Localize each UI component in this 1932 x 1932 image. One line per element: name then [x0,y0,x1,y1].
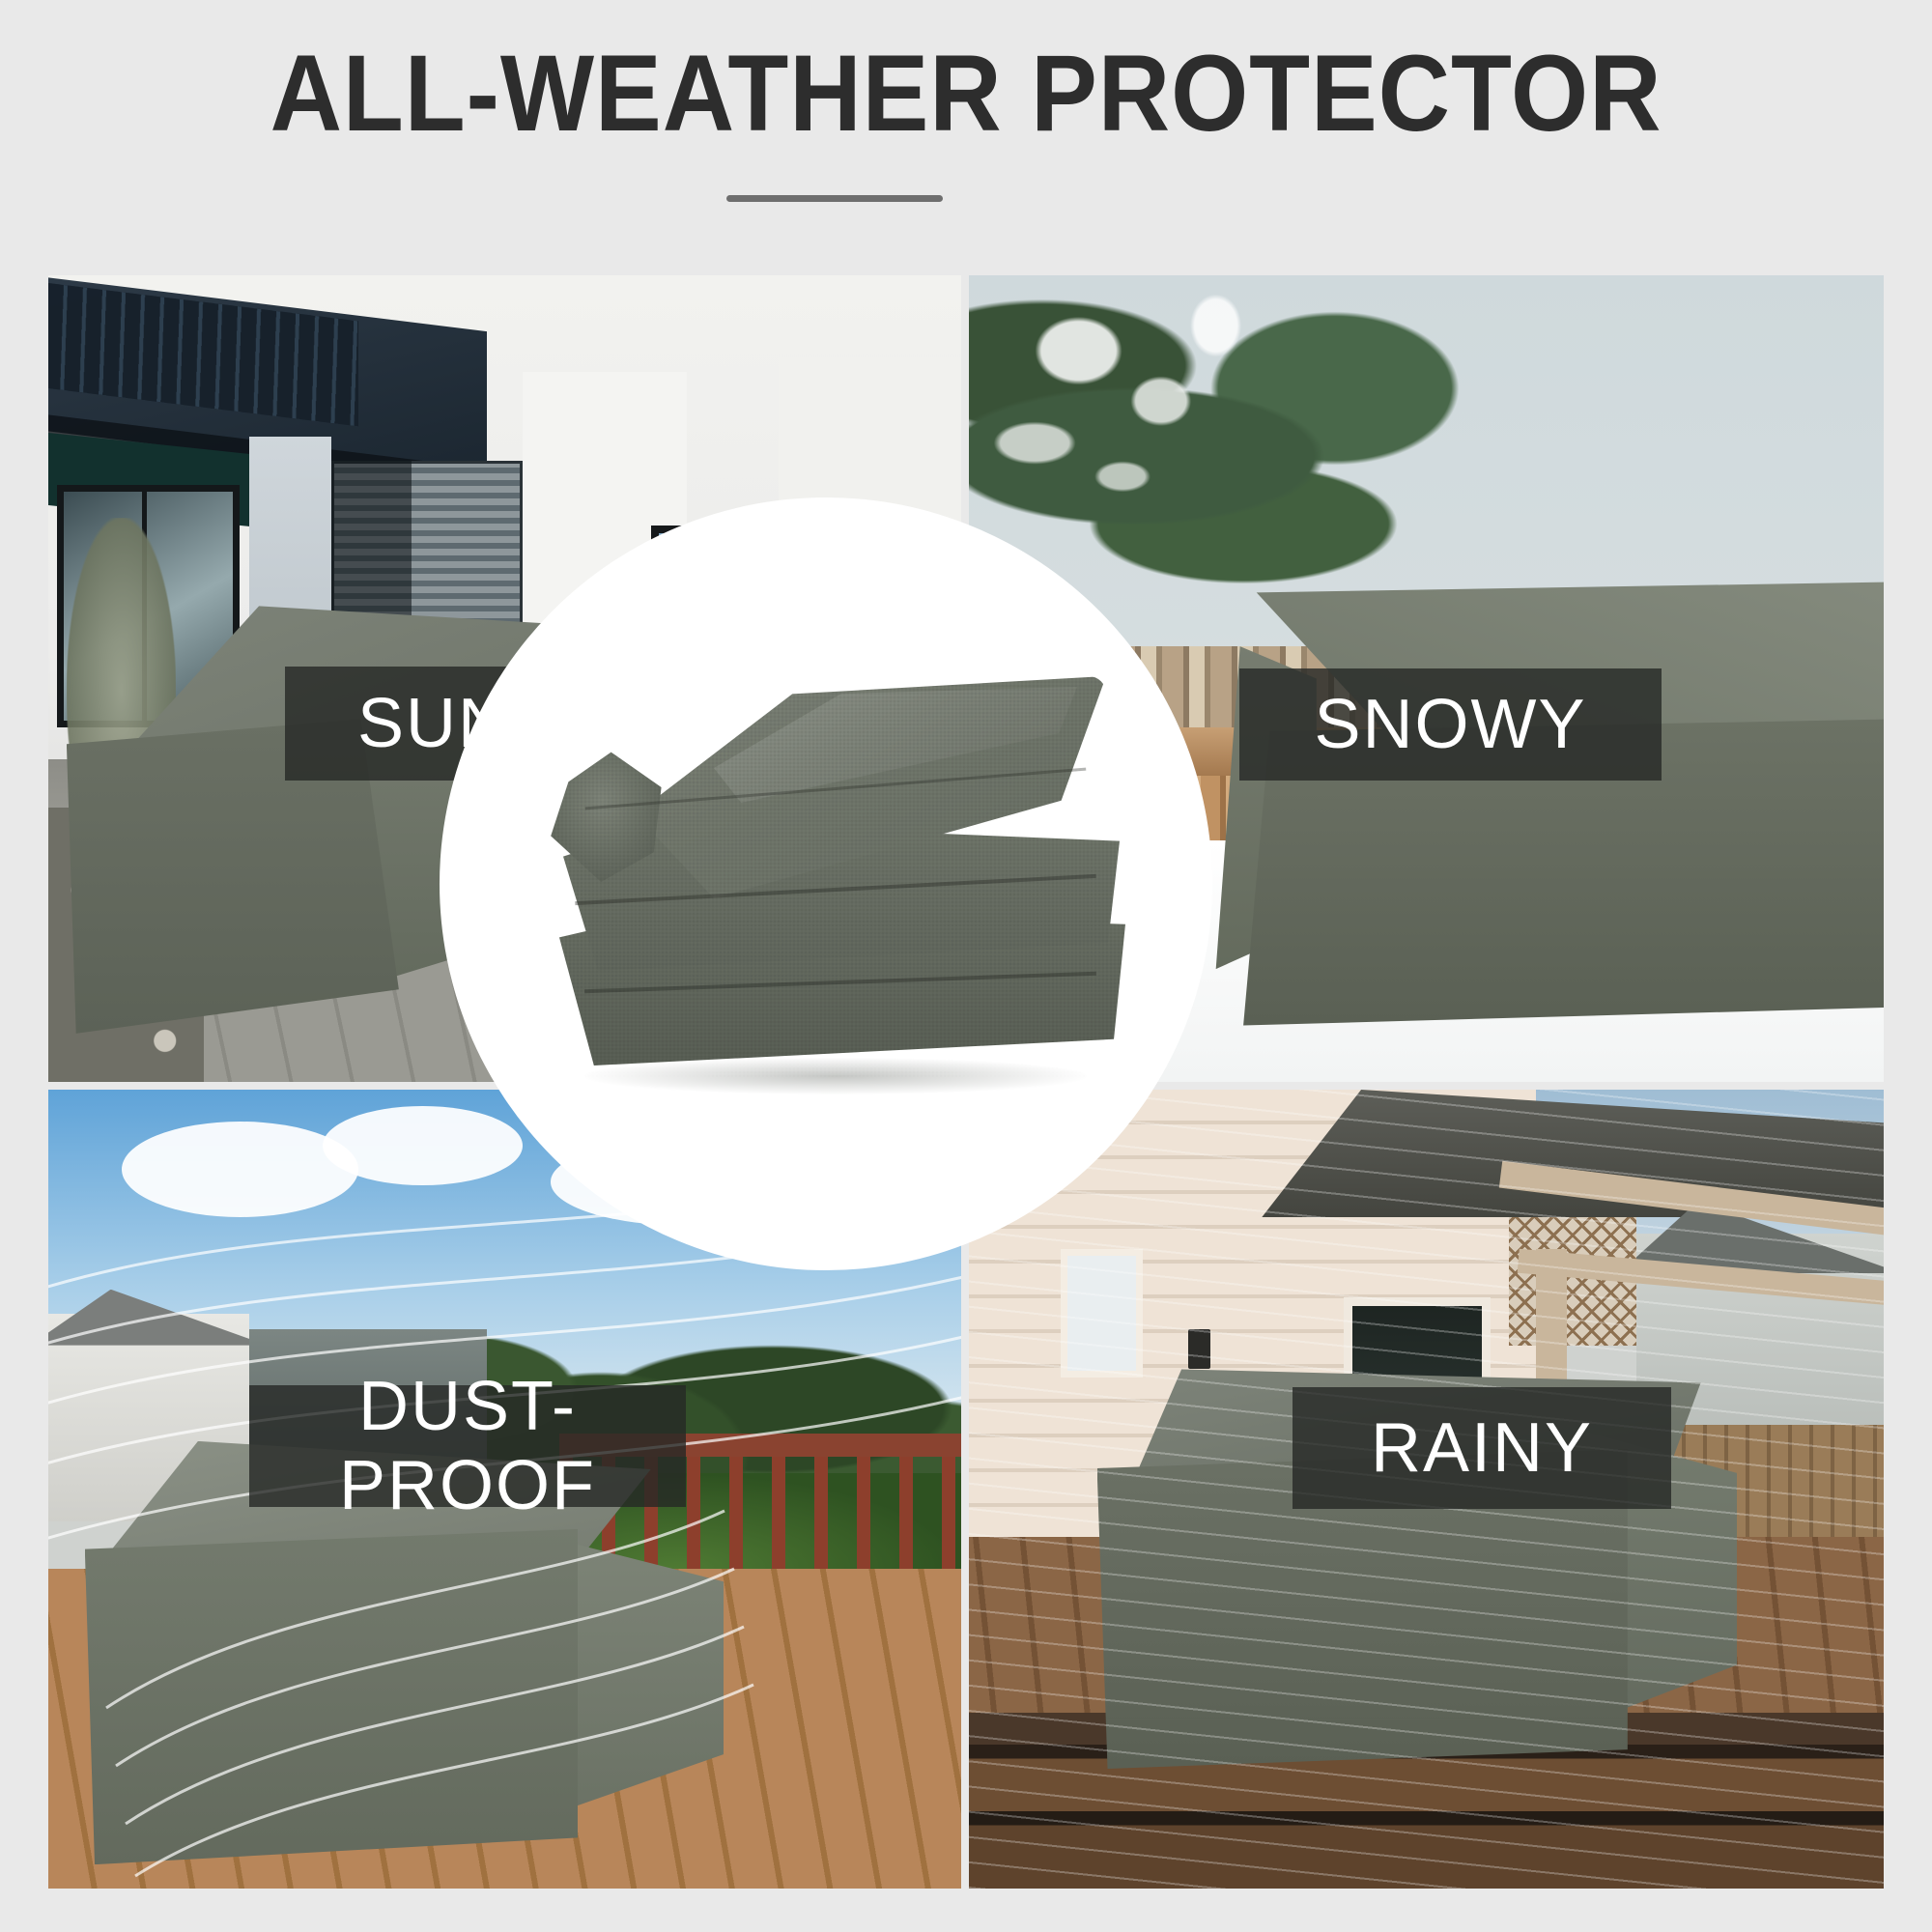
page-title: ALL-WEATHER PROTECTOR [77,37,1855,151]
furniture-cover-front [85,1529,578,1864]
product-infographic: ALL-WEATHER PROTECTOR [0,0,1932,1932]
label-badge-snowy: SNOWY [1239,668,1662,781]
title-divider [726,195,943,202]
badge-text: SNOWY [1239,685,1662,764]
product-hero-circle [440,497,1212,1270]
window-left [1061,1249,1143,1377]
label-badge-dust-proof: DUST-PROOF [249,1385,686,1507]
wall-lamp [1188,1329,1210,1369]
badge-text: RAINY [1293,1408,1671,1488]
badge-text: DUST-PROOF [249,1367,686,1525]
label-badge-rainy: RAINY [1293,1387,1671,1509]
fabric-weave-texture [536,671,1125,1077]
